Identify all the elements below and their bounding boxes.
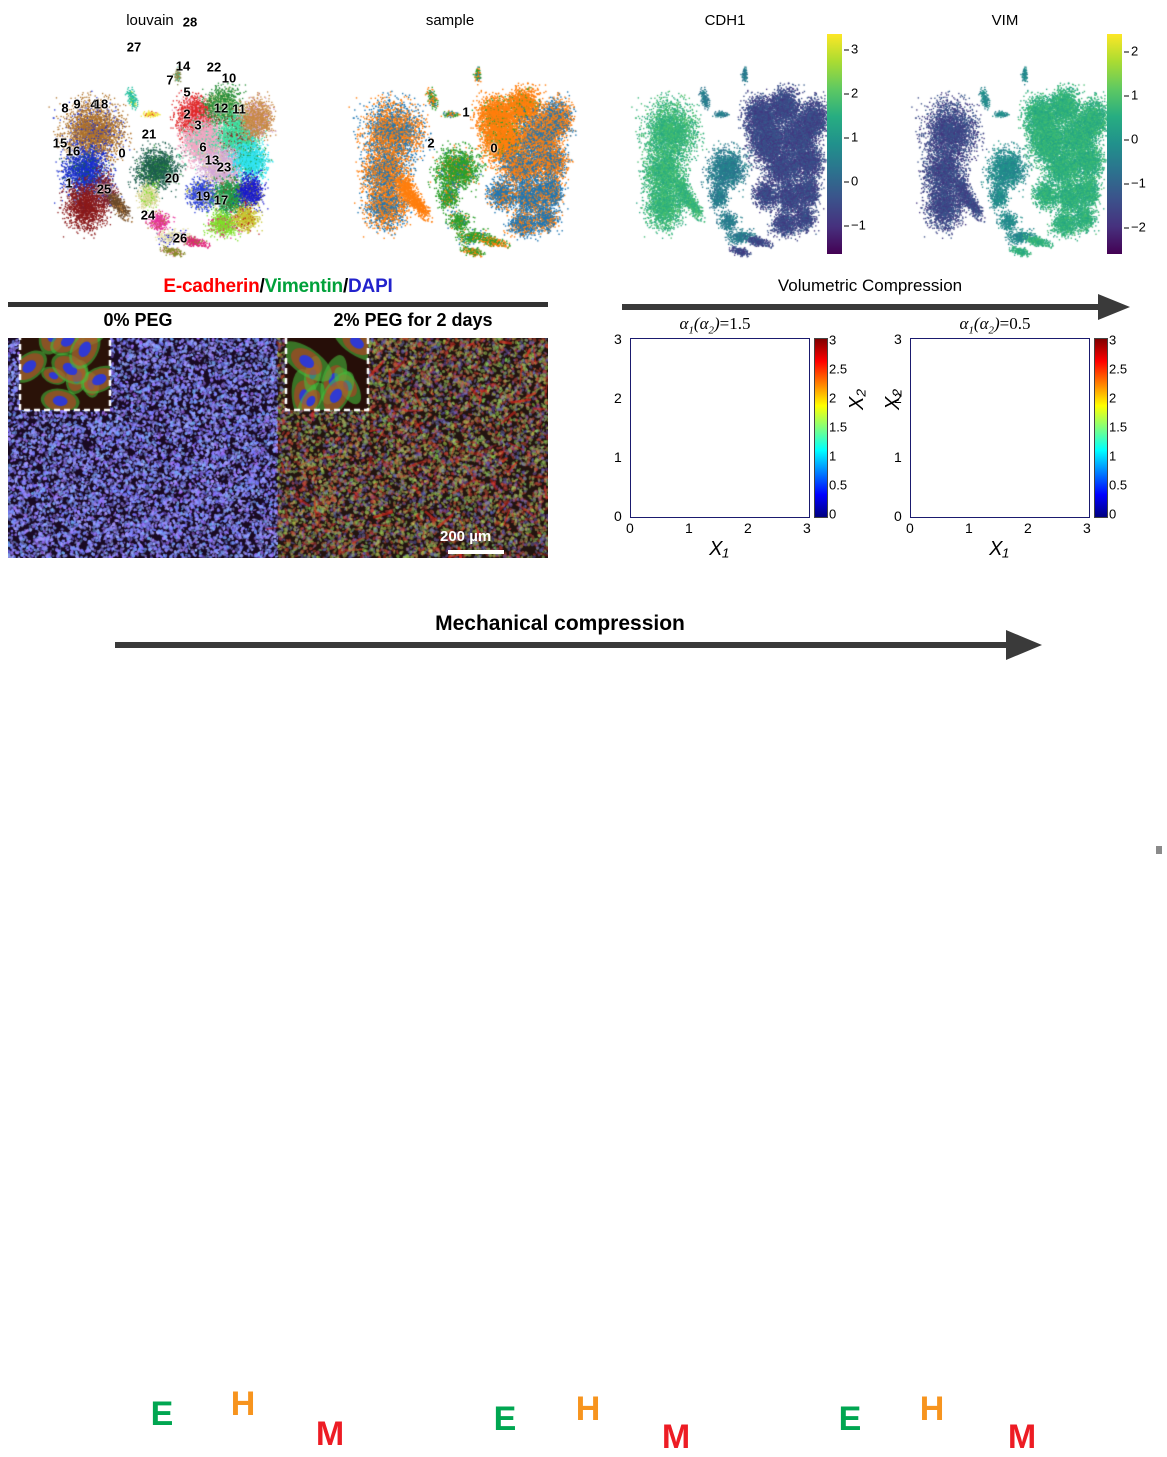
umap-cluster-label-27: 27	[127, 40, 141, 55]
heatmap1-ytick-2: 2	[614, 390, 622, 406]
umap-panel-louvain: louvain 28271475236132322101211894181516…	[0, 0, 300, 270]
microscopy-stain-title: E-cadherin/Vimentin/DAPI	[0, 276, 556, 298]
umap-cluster-label-22: 22	[207, 60, 221, 75]
umap-scatter-louvain	[0, 28, 300, 268]
heatmap2-ylabel: X₂	[882, 389, 905, 410]
umap-cluster-label-19: 19	[196, 189, 210, 204]
heatmap1-xtick-2: 2	[744, 520, 752, 536]
well-label-H-stage1: H	[231, 1385, 256, 1424]
hm2-cb-tick: 3	[1109, 333, 1116, 348]
umap-title-vim: VIM	[880, 12, 1130, 29]
colorbar-tick: −1	[1131, 176, 1146, 191]
heatmap1-xtick-1: 1	[685, 520, 693, 536]
hm1-cb-tick: 1	[829, 449, 836, 464]
hm2-cb-tick: 1.5	[1109, 420, 1127, 435]
alpha-value-1: 1.5	[729, 314, 750, 333]
umap-cluster-label-14: 14	[176, 59, 190, 74]
hm2-cb-tick: 1	[1109, 449, 1116, 464]
heatmap-image-1	[630, 338, 810, 518]
umap-title-cdh1: CDH1	[600, 12, 850, 29]
umap-cluster-label-11: 11	[232, 102, 246, 117]
microscopy-image	[8, 338, 548, 558]
stain-label-ecadherin: E-cadherin	[163, 276, 259, 297]
colorbar-tick: 0	[851, 174, 858, 189]
scalebar-label: 200 µm	[440, 528, 491, 545]
well-label-M-stage1: M	[316, 1415, 344, 1454]
umap-cluster-label-12: 12	[214, 101, 228, 116]
heatmap2-xlabel: X₁	[910, 538, 1088, 561]
umap-cluster-label-23: 23	[217, 160, 231, 175]
stain-label-dapi: DAPI	[348, 276, 393, 297]
umap-title-louvain: louvain	[0, 12, 300, 29]
microscopy-divider	[8, 302, 548, 307]
heatmap2-ytick-3: 3	[894, 331, 902, 347]
hm2-cb-tick: 2.5	[1109, 362, 1127, 377]
umap-cluster-label-20: 20	[165, 171, 179, 186]
well-label-E-stage3: E	[839, 1400, 862, 1439]
heatmap-panel-1: α1(α2)=1.5 3 2 1 0 0 1 2 3 X₁ X₂ 3 2.5 2…	[600, 314, 880, 570]
colorbar-tick: 0	[1131, 132, 1138, 147]
alpha-value-2: 0.5	[1009, 314, 1030, 333]
heatmap2-xtick-1: 1	[965, 520, 973, 536]
umap-title-sample: sample	[300, 12, 600, 29]
hm2-cb-tick: 2	[1109, 391, 1116, 406]
scalebar-bar	[448, 550, 504, 554]
well-label-E-stage1: E	[151, 1395, 174, 1434]
colorbar-tick: 2	[851, 86, 858, 101]
mechanical-compression-label: Mechanical compression	[110, 612, 1010, 636]
heatmap2-ytick-0: 0	[894, 508, 902, 524]
stain-label-vimentin: Vimentin	[265, 276, 343, 297]
colorbar-tick: 2	[1131, 44, 1138, 59]
heatmap2-xtick-2: 2	[1024, 520, 1032, 536]
umap-cluster-label-5: 5	[183, 85, 190, 100]
landscape-panel: Volumetric Compression α1(α2)=1.5 3 2 1 …	[600, 276, 1167, 576]
alpha-equals-2: =	[1000, 314, 1010, 333]
heatmap2-xtick-0: 0	[906, 520, 914, 536]
umap-cluster-label-26: 26	[173, 231, 187, 246]
colorbar-ticks-vim: 2 1 0 −1 −2	[1124, 34, 1164, 254]
hm1-cb-tick: 2.5	[829, 362, 847, 377]
umap-panel-vim: VIM 2 1 0 −1 −2	[880, 0, 1167, 270]
well-label-M-stage2: M	[662, 1418, 690, 1457]
hm1-cb-tick: 0.5	[829, 478, 847, 493]
heatmap2-xtick-3: 3	[1083, 520, 1091, 536]
heatmap1-xtick-0: 0	[626, 520, 634, 536]
umap-cluster-label-10: 10	[222, 71, 236, 86]
umap-cluster-label-17: 17	[214, 193, 228, 208]
umap-cluster-label-3: 3	[194, 118, 201, 133]
hm2-cb-tick: 0.5	[1109, 478, 1127, 493]
well-label-H-stage3: H	[920, 1390, 945, 1429]
umap-panel-sample: sample 012	[300, 0, 600, 270]
umap-scatter-cdh1	[600, 28, 850, 268]
alpha-sub-1: 1	[688, 324, 693, 336]
schematic-panel: Mechanical compression E H M E H M E H M	[0, 600, 1167, 879]
heatmap1-ylabel: X₂	[846, 389, 869, 410]
heatmap1-xlabel: X₁	[630, 538, 808, 561]
heatmap-param-label-2: α1(α2)=0.5	[880, 314, 1110, 336]
hm1-cb-tick: 3	[829, 333, 836, 348]
heatmap-image-2	[910, 338, 1090, 518]
umap-cluster-label-21: 21	[142, 127, 156, 142]
umap-panel-cdh1: CDH1 3 2 1 0 −1	[600, 0, 887, 270]
umap-sample-label-2: 2	[427, 136, 434, 151]
umap-cluster-label-0: 0	[118, 146, 125, 161]
condition-label-0pct: 0% PEG	[8, 310, 268, 331]
umap-cluster-label-18: 18	[94, 97, 108, 112]
heatmap-panel-2: α1(α2)=0.5 3 2 1 0 0 1 2 3 X₁ X₂ 3 2.5 2…	[880, 314, 1167, 570]
alpha-sub-4: 2	[989, 324, 994, 336]
colorbar-tick: −1	[851, 218, 866, 233]
umap-cluster-label-2: 2	[183, 107, 190, 122]
mechanical-compression-arrow-shaft	[115, 642, 1010, 648]
colorbar-vim	[1107, 34, 1122, 254]
well-label-E-stage2: E	[494, 1400, 517, 1439]
microscopy-panel: E-cadherin/Vimentin/DAPI 0% PEG 2% PEG f…	[0, 276, 556, 576]
heatmap1-ytick-3: 3	[614, 331, 622, 347]
heatmap2-ytick-1: 1	[894, 449, 902, 465]
heatmap1-colorbar	[814, 338, 828, 518]
hm1-cb-tick: 1.5	[829, 420, 847, 435]
umap-sample-label-1: 1	[462, 105, 469, 120]
umap-cluster-label-7: 7	[166, 73, 173, 88]
hm2-cb-tick: 0	[1109, 507, 1116, 522]
well-label-H-stage2: H	[576, 1390, 601, 1429]
volumetric-compression-label: Volumetric Compression	[600, 276, 1140, 296]
colorbar-tick: 1	[851, 130, 858, 145]
colorbar-cdh1	[827, 34, 842, 254]
umap-scatter-vim	[880, 28, 1130, 268]
colorbar-ticks-cdh1: 3 2 1 0 −1	[844, 34, 884, 254]
alpha-sub-3: 1	[968, 324, 973, 336]
heatmap2-colorbar	[1094, 338, 1108, 518]
alpha-symbol-2: α	[700, 314, 709, 333]
umap-cluster-label-8: 8	[61, 101, 68, 116]
umap-cluster-label-25: 25	[97, 182, 111, 197]
heatmap1-ytick-0: 0	[614, 508, 622, 524]
colorbar-tick: 1	[1131, 88, 1138, 103]
alpha-equals-1: =	[720, 314, 730, 333]
heatmap1-ytick-1: 1	[614, 449, 622, 465]
umap-scatter-sample	[300, 28, 600, 268]
umap-sample-label-0: 0	[490, 141, 497, 156]
page-edge-mark	[1156, 846, 1162, 854]
alpha-sub-2: 2	[709, 324, 714, 336]
umap-cluster-label-1: 1	[65, 176, 72, 191]
colorbar-tick: 3	[851, 42, 858, 57]
heatmap1-xtick-3: 3	[803, 520, 811, 536]
epigenetic-landscape-canvas	[0, 654, 1167, 879]
umap-cluster-label-28: 28	[183, 15, 197, 30]
alpha-symbol-4: α	[980, 314, 989, 333]
well-label-M-stage3: M	[1008, 1418, 1036, 1457]
hm1-cb-tick: 0	[829, 507, 836, 522]
umap-cluster-label-24: 24	[141, 208, 155, 223]
colorbar-tick: −2	[1131, 220, 1146, 235]
hm1-cb-tick: 2	[829, 391, 836, 406]
umap-cluster-label-9: 9	[73, 97, 80, 112]
condition-label-2pct: 2% PEG for 2 days	[278, 310, 548, 331]
heatmap-param-label-1: α1(α2)=1.5	[600, 314, 830, 336]
umap-cluster-label-16: 16	[66, 144, 80, 159]
volumetric-compression-arrow-shaft	[622, 304, 1102, 310]
